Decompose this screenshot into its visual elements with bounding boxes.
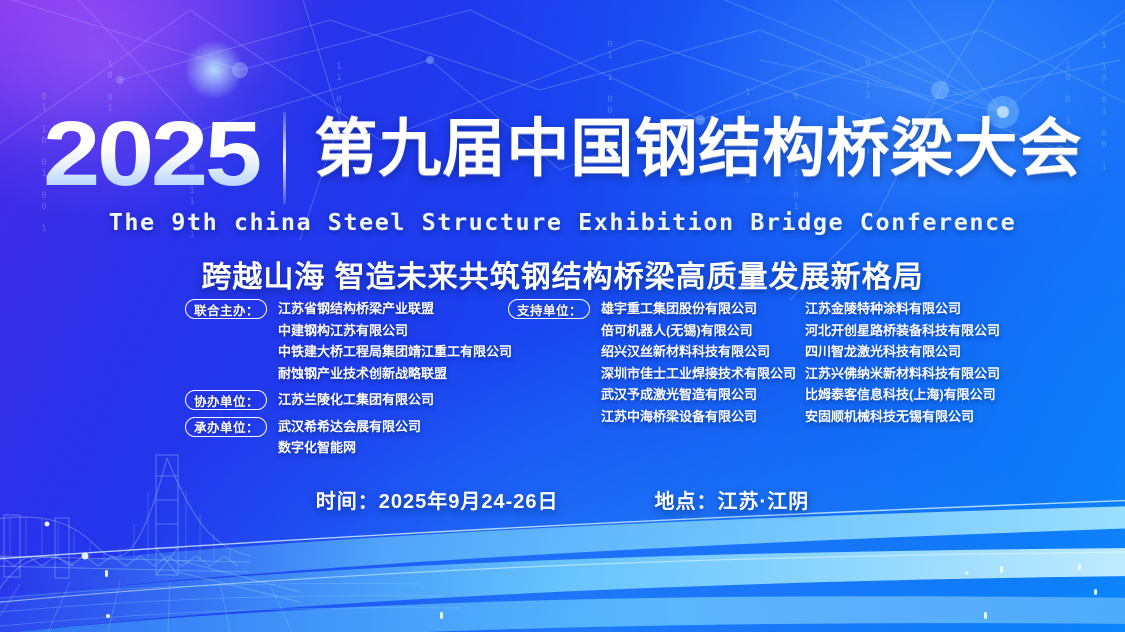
credit-entry: 四川智龙激光科技有限公司 (805, 341, 1020, 363)
banner-header: 2025 第九届中国钢结构桥梁大会 The 9th china Steel St… (0, 112, 1125, 296)
credits-column-left: 联合主办： 江苏省钢结构桥梁产业联盟 中建钢构江苏有限公司 中铁建大桥工程局集团… (185, 298, 495, 464)
credit-entry: 深圳市佳士工业焊接技术有限公司 (601, 363, 796, 385)
credit-entry: 比姆泰客信息科技(上海)有限公司 (805, 384, 1020, 406)
credit-entry-list: 雄宇重工集团股份有限公司 倍可机器人(无锡)有限公司 绍兴汉丝新材料科技有限公司… (601, 298, 796, 427)
event-meta: 时间：2025年9月24-26日 地点：江苏·江阴 (0, 485, 1125, 514)
credit-entry: 江苏中海桥梁设备有限公司 (601, 406, 796, 428)
credit-label-pill: 协办单位： (185, 390, 267, 410)
credits-section: 联合主办： 江苏省钢结构桥梁产业联盟 中建钢构江苏有限公司 中铁建大桥工程局集团… (0, 298, 1125, 448)
credit-entry: 数字化智能网 (278, 437, 421, 459)
credit-entry: 河北开创星路桥装备科技有限公司 (805, 320, 1020, 342)
credit-label-pill: 支持单位： (508, 299, 590, 319)
credit-entry-list: 武汉希希达会展有限公司 数字化智能网 (278, 416, 421, 459)
conference-title-en: The 9th china Steel Structure Exhibition… (0, 208, 1125, 236)
credits-column-mid: 支持单位： 雄宇重工集团股份有限公司 倍可机器人(无锡)有限公司 绍兴汉丝新材料… (508, 298, 798, 432)
conference-title-cn: 第九届中国钢结构桥梁大会 (314, 112, 1082, 186)
credit-entry: 中铁建大桥工程局集团靖江重工有限公司 (278, 341, 512, 363)
credit-entry: 中建钢构江苏有限公司 (278, 320, 512, 342)
credit-entry: 雄宇重工集团股份有限公司 (601, 298, 796, 320)
credit-entry: 江苏省钢结构桥梁产业联盟 (278, 298, 512, 320)
credit-entry: 江苏兰陵化工集团有限公司 (278, 389, 434, 411)
event-date: 时间：2025年9月24-26日 (316, 485, 559, 514)
year-heading: 2025 (43, 112, 263, 196)
credit-entry: 武汉希希达会展有限公司 (278, 416, 421, 438)
spark-glow-center (184, 40, 244, 100)
credits-column-right: 江苏金陵特种涂料有限公司 河北开创星路桥装备科技有限公司 四川智龙激光科技有限公… (805, 298, 1020, 427)
credit-entry-list: 江苏兰陵化工集团有限公司 (278, 389, 434, 411)
conference-slogan: 跨越山海 智造未来共筑钢结构桥梁高质量发展新格局 (0, 252, 1125, 296)
credit-entry: 绍兴汉丝新材料科技有限公司 (601, 341, 796, 363)
event-location: 地点：江苏·江阴 (655, 485, 810, 514)
title-divider (283, 112, 286, 204)
credit-entry-list: 江苏省钢结构桥梁产业联盟 中建钢构江苏有限公司 中铁建大桥工程局集团靖江重工有限… (278, 298, 512, 384)
credit-entry: 倍可机器人(无锡)有限公司 (601, 320, 796, 342)
credit-group: 协办单位： 江苏兰陵化工集团有限公司 (185, 389, 495, 411)
credit-group: 联合主办： 江苏省钢结构桥梁产业联盟 中建钢构江苏有限公司 中铁建大桥工程局集团… (185, 298, 495, 384)
credit-group: 承办单位： 武汉希希达会展有限公司 数字化智能网 (185, 416, 495, 459)
credit-entry: 江苏兴佛纳米新材料科技有限公司 (805, 363, 1020, 385)
credit-label-pill: 联合主办： (185, 299, 267, 319)
credit-entry: 武汉予成激光智造有限公司 (601, 384, 796, 406)
credit-label-pill: 承办单位： (185, 417, 267, 437)
conference-banner: 01 10 01 00 1 10 01 11 0 0 1 0 11 01 11 … (0, 0, 1125, 632)
title-row: 2025 第九届中国钢结构桥梁大会 (0, 112, 1125, 204)
credit-entry: 耐蚀钢产业技术创新战略联盟 (278, 363, 512, 385)
credit-group: 支持单位： 雄宇重工集团股份有限公司 倍可机器人(无锡)有限公司 绍兴汉丝新材料… (508, 298, 798, 427)
credit-entry: 江苏金陵特种涂料有限公司 (805, 298, 1020, 320)
credit-entry: 安固顺机械科技无锡有限公司 (805, 406, 1020, 428)
